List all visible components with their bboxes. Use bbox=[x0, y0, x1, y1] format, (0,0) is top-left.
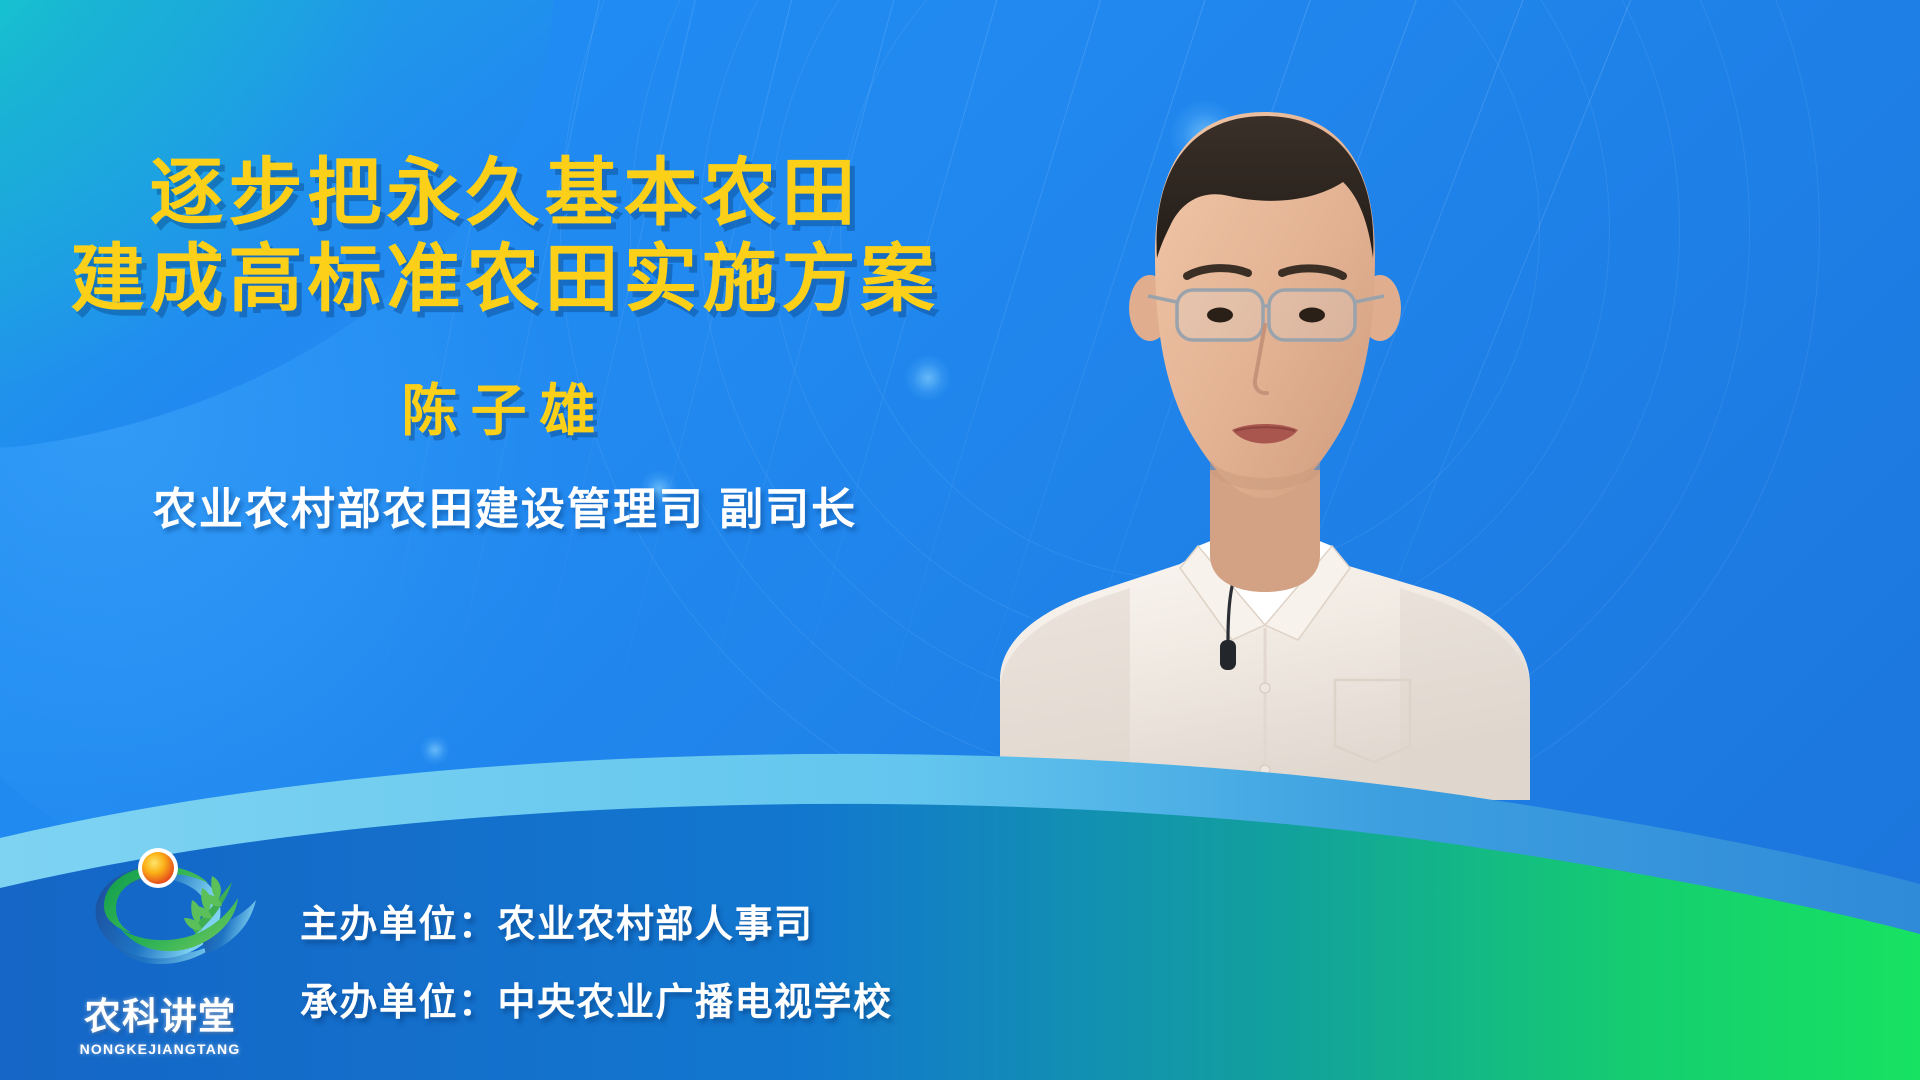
speaker-name: 陈子雄 bbox=[0, 366, 1010, 447]
credits-block: 主办单位：农业农村部人事司 承办单位：中央农业广播电视学校 bbox=[300, 906, 893, 1022]
broadcast-title-card: 逐步把永久基本农田 建成高标准农田实施方案 陈子雄 农业农村部农田建设管理司 副… bbox=[0, 0, 1920, 1080]
logo-text-en: NONGKEJIANGTANG bbox=[60, 1041, 260, 1057]
speaker-role: 农业农村部农田建设管理司 副司长 bbox=[0, 473, 1010, 537]
program-logo: 农科讲堂 NONGKEJIANGTANG bbox=[60, 840, 260, 1055]
title-line-1: 逐步把永久基本农田 bbox=[0, 150, 1010, 236]
title-line-2: 建成高标准农田实施方案 bbox=[0, 236, 1010, 322]
logo-text-cn: 农科讲堂 bbox=[60, 986, 260, 1040]
credit-co-organizer: 承办单位：中央农业广播电视学校 bbox=[300, 984, 893, 1022]
credit-organizer: 主办单位：农业农村部人事司 bbox=[300, 906, 893, 944]
title-block: 逐步把永久基本农田 建成高标准农田实施方案 陈子雄 农业农村部农田建设管理司 副… bbox=[0, 150, 1010, 537]
bottom-wave-bar bbox=[0, 650, 1920, 1080]
nongke-jiangtang-logo-icon bbox=[60, 840, 260, 990]
